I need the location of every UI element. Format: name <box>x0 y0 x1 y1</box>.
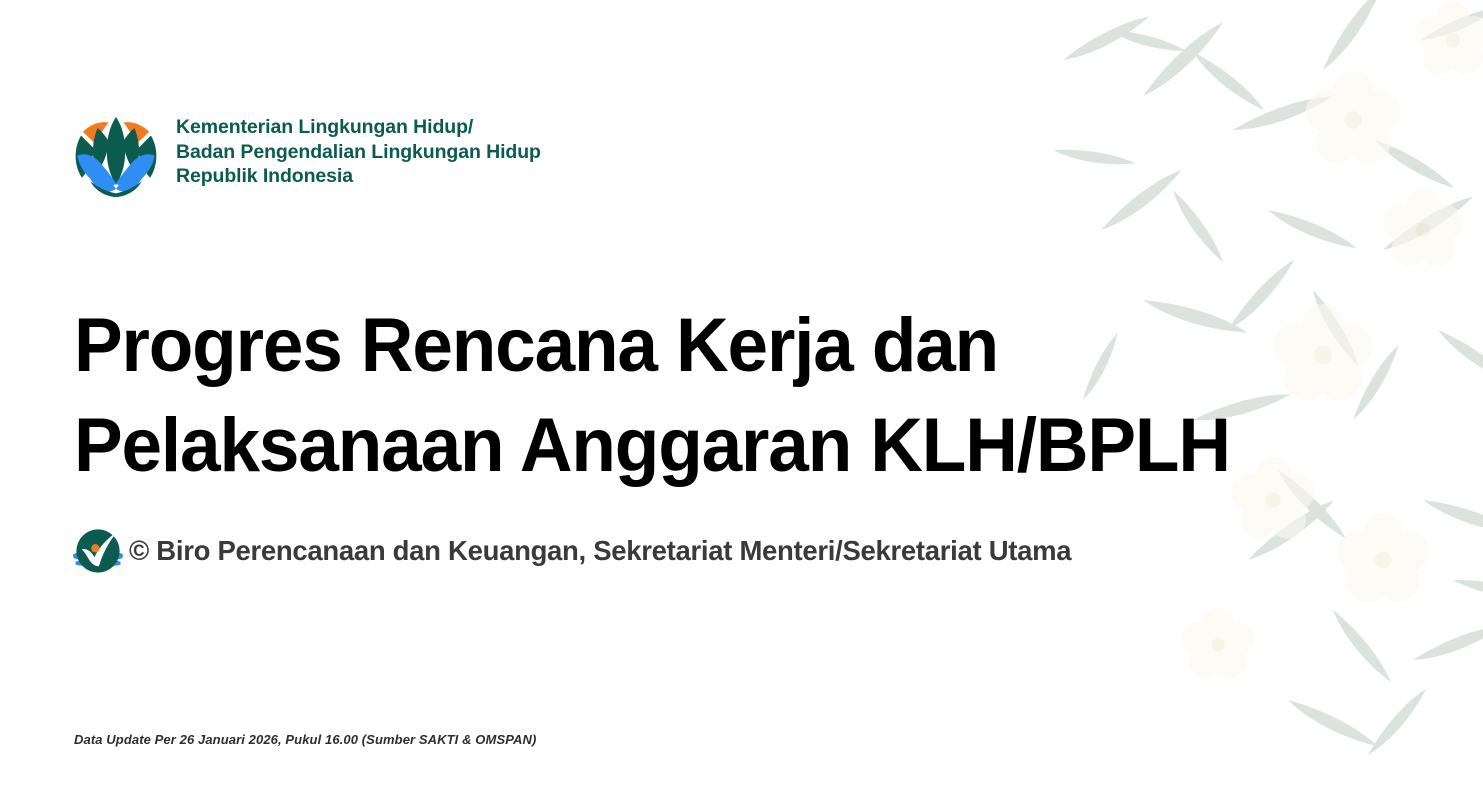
title-line-1: Progres Rencana Kerja dan <box>74 296 1230 396</box>
page-title: Progres Rencana Kerja dan Pelaksanaan An… <box>74 296 1278 496</box>
subtitle-row: © Biro Perencanaan dan Keuangan, Sekreta… <box>71 524 1071 578</box>
organisation-name-block: Kementerian Lingkungan Hidup/ Badan Peng… <box>176 115 541 189</box>
green-check-bird-badge-icon <box>71 524 125 578</box>
title-line-2: Pelaksanaan Anggaran KLH/BPLH <box>74 396 1230 496</box>
ministry-logo-lockup: Kementerian Lingkungan Hidup/ Badan Peng… <box>70 104 541 200</box>
org-name-line-2: Badan Pengendalian Lingkungan Hidup <box>176 140 541 165</box>
org-name-line-3: Republik Indonesia <box>176 164 541 189</box>
ministry-lotus-emblem-icon <box>70 104 162 200</box>
subtitle-label: © Biro Perencanaan dan Keuangan, Sekreta… <box>129 535 1071 567</box>
data-update-note: Data Update Per 26 Januari 2026, Pukul 1… <box>74 732 536 747</box>
title-slide: Kementerian Lingkungan Hidup/ Badan Peng… <box>0 0 1483 793</box>
org-name-line-1: Kementerian Lingkungan Hidup/ <box>176 115 541 140</box>
